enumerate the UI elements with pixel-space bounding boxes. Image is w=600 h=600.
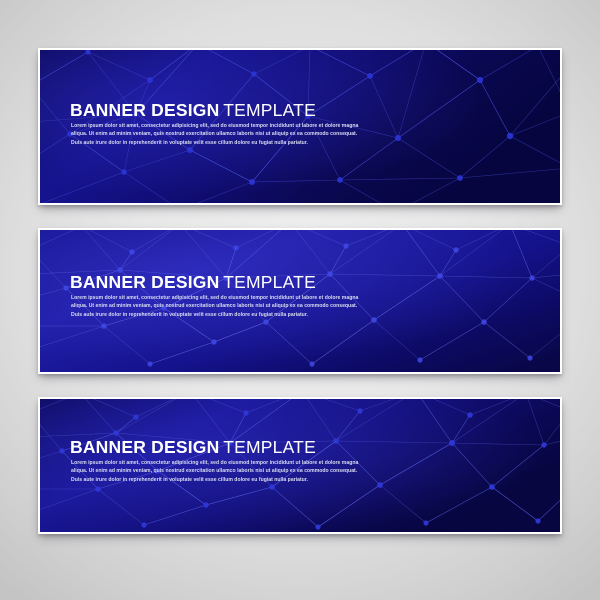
polygonal-network-background-2 (40, 230, 560, 372)
banner-artwork-3: BANNER DESIGNTEMPLATE Lorem ipsum dolor … (40, 399, 560, 532)
poster-canvas: BANNER DESIGNTEMPLATE Lorem ipsum dolor … (0, 0, 600, 600)
polygonal-network-background-3 (40, 399, 560, 532)
banner-card-3[interactable]: BANNER DESIGNTEMPLATE Lorem ipsum dolor … (38, 397, 562, 534)
banner-artwork-1: BANNER DESIGNTEMPLATE Lorem ipsum dolor … (40, 50, 560, 203)
polygonal-network-background-1 (40, 50, 560, 203)
banner-card-2[interactable]: BANNER DESIGNTEMPLATE Lorem ipsum dolor … (38, 228, 562, 374)
banner-artwork-2: BANNER DESIGNTEMPLATE Lorem ipsum dolor … (40, 230, 560, 372)
banner-card-1[interactable]: BANNER DESIGNTEMPLATE Lorem ipsum dolor … (38, 48, 562, 205)
